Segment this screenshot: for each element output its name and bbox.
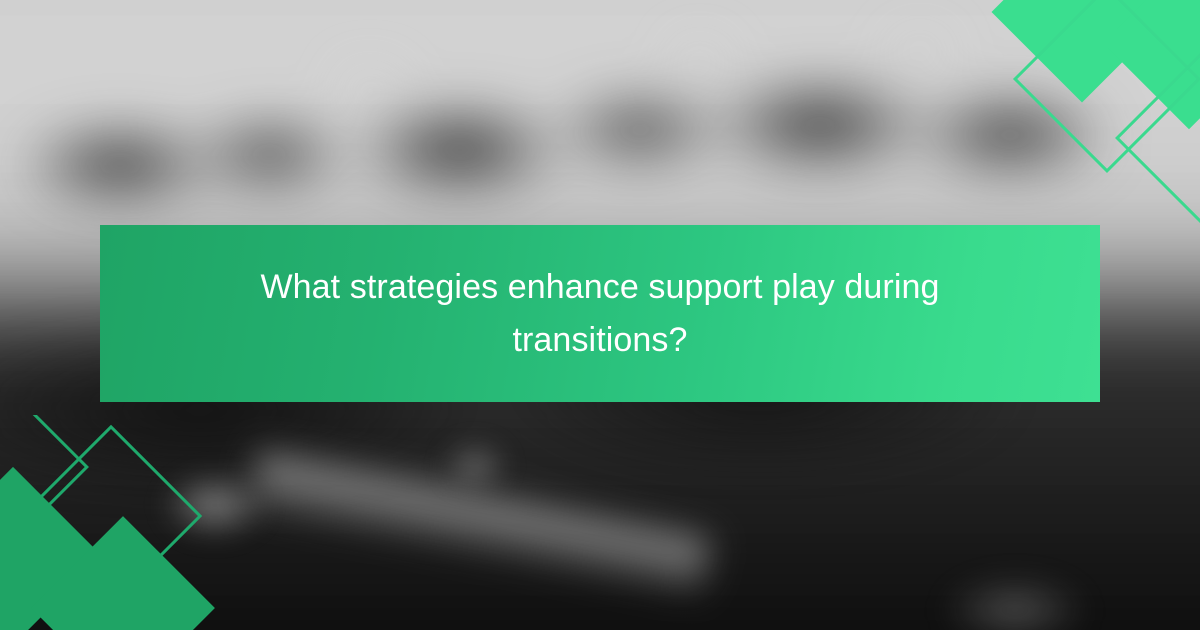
background-highlight-center (440, 440, 510, 490)
background-highlight-left (160, 470, 270, 540)
page-title: What strategies enhance support play dur… (200, 261, 1000, 366)
social-card: What strategies enhance support play dur… (0, 0, 1200, 630)
headline-banner: What strategies enhance support play dur… (100, 225, 1100, 402)
background-highlight-right (940, 575, 1090, 630)
